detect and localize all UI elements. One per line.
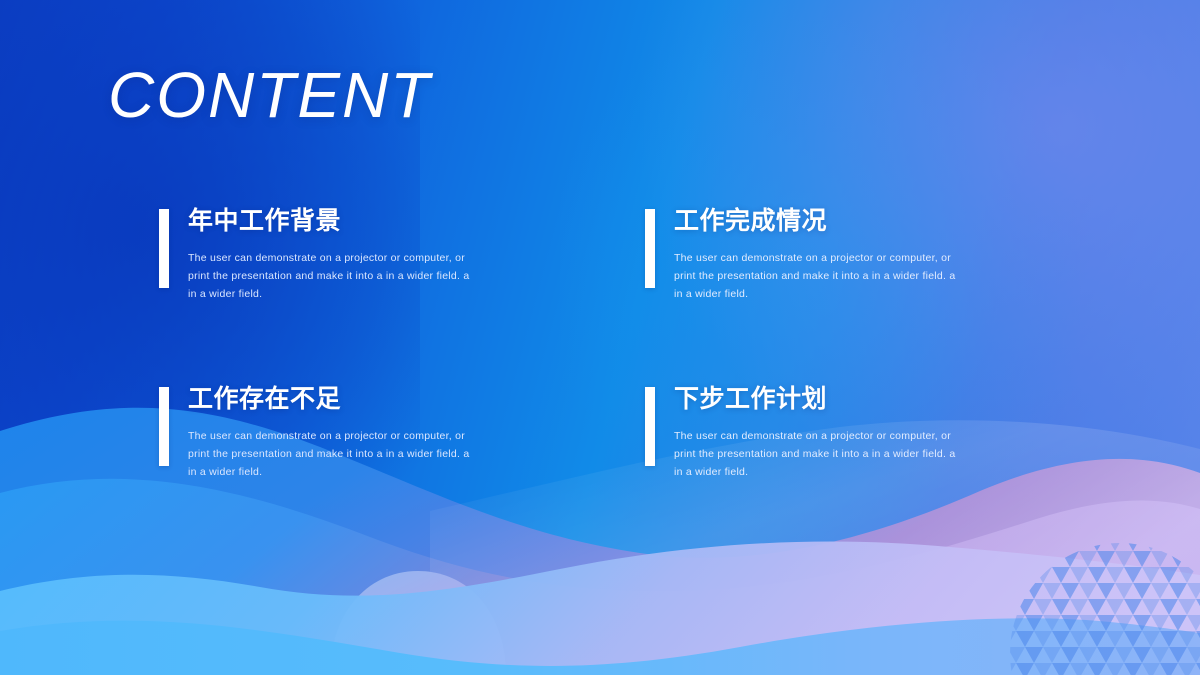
item-accent-bar — [159, 209, 169, 288]
content-item-title: 工作完成情况 — [674, 207, 974, 236]
content-item-description: The user can demonstrate on a projector … — [674, 249, 966, 303]
content-item-title: 年中工作背景 — [188, 207, 488, 236]
content-item-description: The user can demonstrate on a projector … — [188, 427, 480, 481]
item-accent-bar — [159, 387, 169, 466]
content-grid: 年中工作背景 The user can demonstrate on a pro… — [0, 0, 1200, 675]
content-item-title: 工作存在不足 — [188, 385, 488, 414]
item-accent-bar — [645, 387, 655, 466]
content-item-description: The user can demonstrate on a projector … — [188, 249, 480, 303]
content-item-4[interactable]: 下步工作计划 The user can demonstrate on a pro… — [645, 385, 974, 481]
content-item-2[interactable]: 工作完成情况 The user can demonstrate on a pro… — [645, 207, 974, 303]
content-item-description: The user can demonstrate on a projector … — [674, 427, 966, 481]
content-item-1[interactable]: 年中工作背景 The user can demonstrate on a pro… — [159, 207, 488, 303]
slide-canvas: CONTENT 年中工作背景 The user can demonstrate … — [0, 0, 1200, 675]
content-item-3[interactable]: 工作存在不足 The user can demonstrate on a pro… — [159, 385, 488, 481]
content-item-title: 下步工作计划 — [674, 385, 974, 414]
item-accent-bar — [645, 209, 655, 288]
